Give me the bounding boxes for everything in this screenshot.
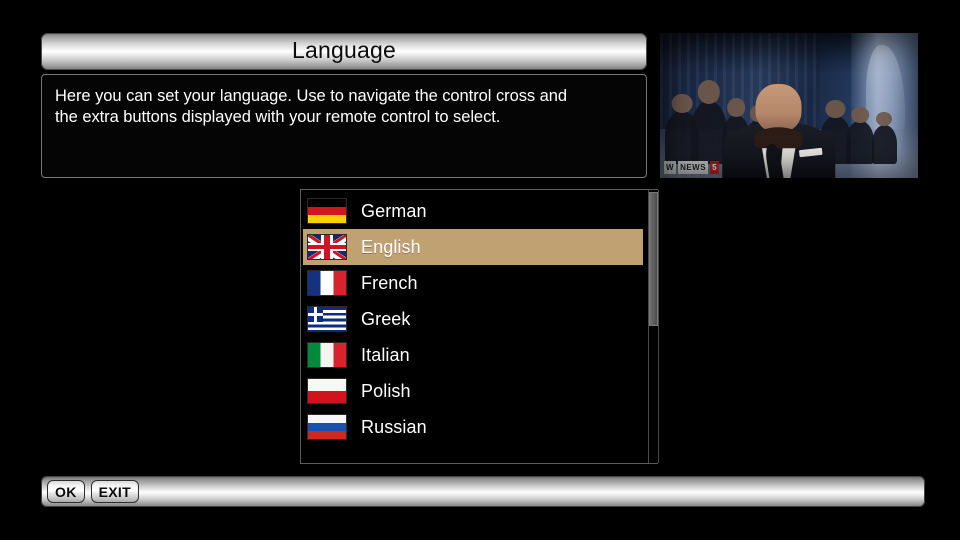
flag-greece-icon (307, 306, 347, 332)
language-label: Polish (361, 382, 411, 400)
language-list-scrollbar-thumb[interactable] (649, 192, 658, 326)
reporter-head (756, 84, 801, 132)
language-row-german[interactable]: German (303, 193, 643, 229)
flag-united-kingdom-icon (307, 234, 347, 260)
flag-france-icon (307, 270, 347, 296)
language-list: GermanEnglishFrenchGreekItalianPolishRus… (303, 193, 643, 445)
channel-bug-part-2: NEWS (678, 161, 708, 174)
channel-bug-part-3: 5 (710, 161, 719, 174)
language-row-russian[interactable]: Russian (303, 409, 643, 445)
language-row-english[interactable]: English (303, 229, 643, 265)
language-list-panel: GermanEnglishFrenchGreekItalianPolishRus… (300, 189, 658, 464)
language-row-italian[interactable]: Italian (303, 337, 643, 373)
page-title: Language (292, 39, 396, 62)
language-label: German (361, 202, 427, 220)
channel-logo-bug: W NEWS 5 (664, 161, 719, 174)
live-tv-preview[interactable]: W NEWS 5 (660, 33, 918, 178)
page-title-bar: Language (41, 33, 647, 70)
action-bar: OK EXIT (41, 476, 925, 507)
flag-germany-icon (307, 198, 347, 224)
exit-button[interactable]: EXIT (91, 480, 139, 503)
reporter-hair (755, 127, 803, 148)
ok-button[interactable]: OK (47, 480, 85, 503)
language-row-french[interactable]: French (303, 265, 643, 301)
language-label: Russian (361, 418, 427, 436)
language-row-greek[interactable]: Greek (303, 301, 643, 337)
language-row-polish[interactable]: Polish (303, 373, 643, 409)
flag-italy-icon (307, 342, 347, 368)
description-box: Here you can set your language. Use to n… (41, 74, 647, 178)
language-label: Italian (361, 346, 410, 364)
preview-reporter (722, 79, 836, 178)
tv-settings-screen: Language Here you can set your language.… (0, 0, 960, 540)
flag-russia-icon (307, 414, 347, 440)
description-text: Here you can set your language. Use to n… (55, 86, 633, 128)
language-label: French (361, 274, 418, 292)
flag-poland-icon (307, 378, 347, 404)
language-label: Greek (361, 310, 411, 328)
language-label: English (361, 238, 421, 256)
channel-bug-part-1: W (664, 161, 676, 174)
